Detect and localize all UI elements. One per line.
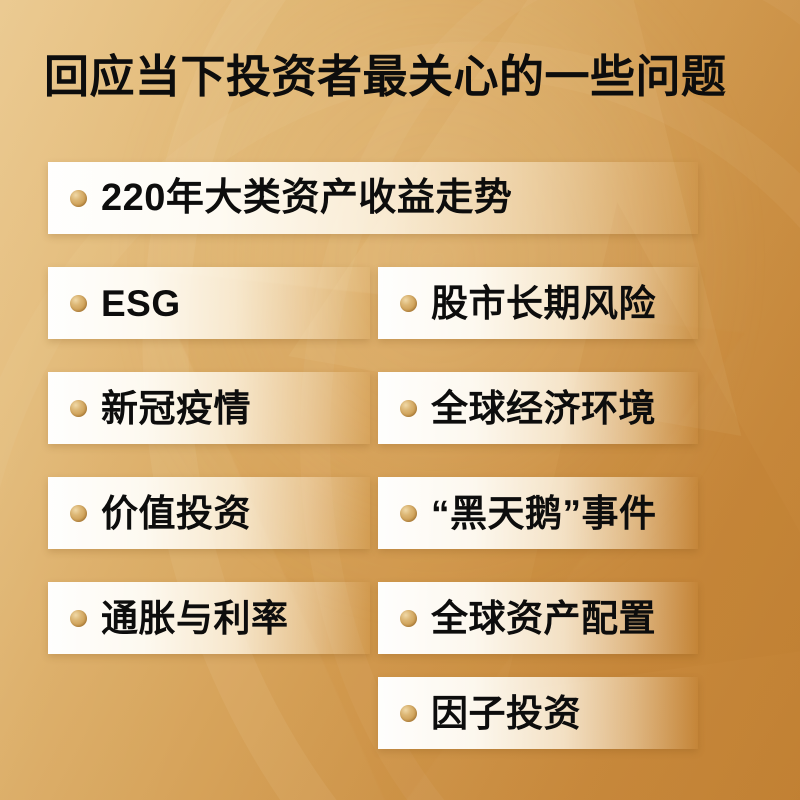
bullet-dot-icon [70,190,87,207]
topic-row: 新冠疫情 全球经济环境 [0,372,800,444]
bullet-dot-icon [70,505,87,522]
topic-row: ESG 股市长期风险 [0,267,800,339]
topic-card-新冠疫情[interactable]: 新冠疫情 [48,372,370,444]
poster-canvas: 回应当下投资者最关心的一些问题 220年大类资产收益走势 ESG 股市长期风险 [0,0,800,800]
bullet-dot-icon [70,400,87,417]
bullet-dot-icon [400,705,417,722]
bullet-dot-icon [70,295,87,312]
topic-card-label: 全球资产配置 [431,600,656,637]
topic-card-全球资产配置[interactable]: 全球资产配置 [378,582,698,654]
topic-card-label: 因子投资 [431,695,581,732]
topic-card-label: 通胀与利率 [101,600,289,637]
topic-row: 220年大类资产收益走势 [0,162,800,234]
topic-card-label: 220年大类资产收益走势 [101,179,512,217]
topic-card-因子投资[interactable]: 因子投资 [378,677,698,749]
bullet-dot-icon [400,610,417,627]
bullet-dot-icon [70,610,87,627]
topic-row: 因子投资 [0,677,800,749]
bullet-dot-icon [400,295,417,312]
topic-card-label: ESG [101,285,181,322]
topic-row: 价值投资 “黑天鹅”事件 [0,477,800,549]
topic-card-label: 全球经济环境 [431,390,656,427]
topic-card-label: 股市长期风险 [431,285,656,322]
topic-card-label: “黑天鹅”事件 [431,495,657,532]
topic-card-价值投资[interactable]: 价值投资 [48,477,370,549]
topic-card-label: 价值投资 [101,495,251,532]
bullet-dot-icon [400,505,417,522]
topic-card-全球经济环境[interactable]: 全球经济环境 [378,372,698,444]
topic-card-220年大类资产收益走势[interactable]: 220年大类资产收益走势 [48,162,698,234]
topic-card-label: 新冠疫情 [101,390,251,427]
topic-card-股市长期风险[interactable]: 股市长期风险 [378,267,698,339]
topic-row: 通胀与利率 全球资产配置 [0,582,800,654]
topic-card-通胀与利率[interactable]: 通胀与利率 [48,582,370,654]
topic-card-黑天鹅事件[interactable]: “黑天鹅”事件 [378,477,698,549]
topic-list: 220年大类资产收益走势 ESG 股市长期风险 新冠疫情 全球经济环境 [0,0,800,800]
bullet-dot-icon [400,400,417,417]
topic-card-esg[interactable]: ESG [48,267,370,339]
